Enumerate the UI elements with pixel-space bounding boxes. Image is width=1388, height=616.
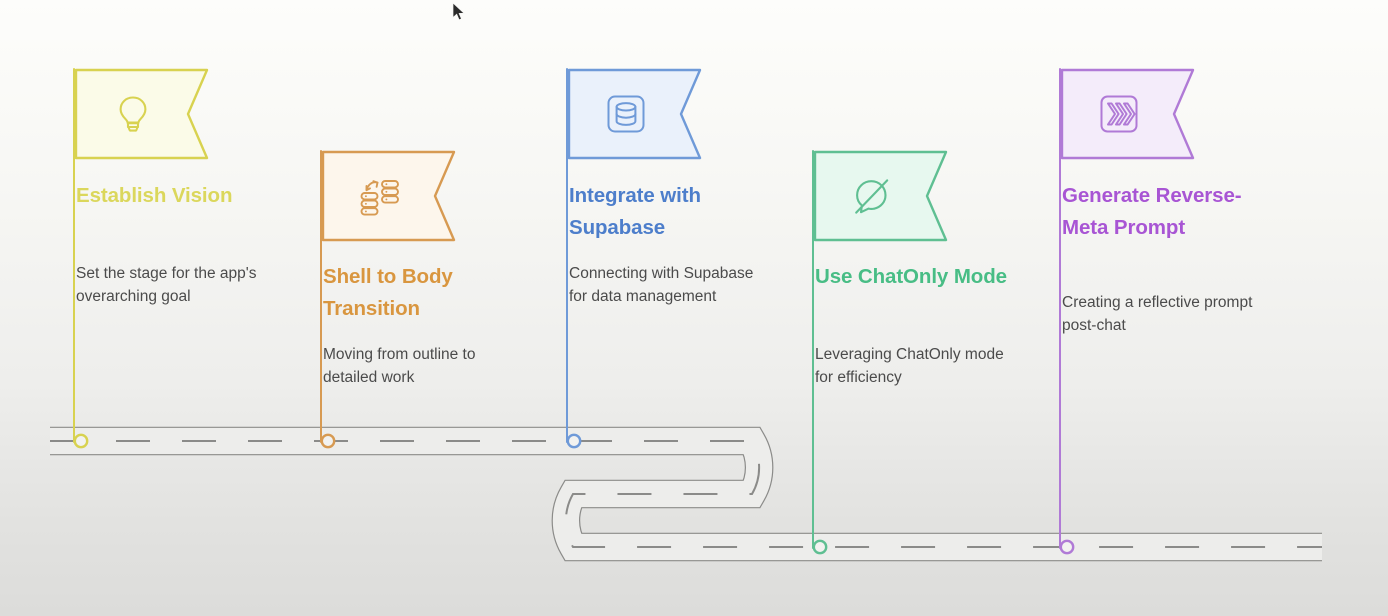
milestone-description: Set the stage for the app's overarching … xyxy=(76,262,272,308)
milestone-flag[interactable] xyxy=(814,150,954,242)
milestone-description: Moving from outline to detailed work xyxy=(323,343,519,389)
road-marker-use-chatonly-mode[interactable] xyxy=(814,541,826,553)
milestone-description: Creating a reflective prompt post-chat xyxy=(1062,291,1258,337)
milestone-title: Generate Reverse-Meta Prompt xyxy=(1062,180,1257,244)
milestone-description: Leveraging ChatOnly mode for efficiency xyxy=(815,343,1011,389)
milestone-title: Establish Vision xyxy=(76,180,271,212)
milestone-title: Use ChatOnly Mode xyxy=(815,261,1010,293)
road-marker-integrate-with-supabase[interactable] xyxy=(568,435,580,447)
mouse-pointer-icon xyxy=(452,2,466,22)
roadmap-canvas: Establish VisionSet the stage for the ap… xyxy=(0,0,1388,616)
milestone-title: Integrate with Supabase xyxy=(569,180,764,244)
road-marker-shell-to-body-transition[interactable] xyxy=(322,435,334,447)
road-fill-inner xyxy=(50,441,1322,547)
milestone-flag[interactable] xyxy=(568,68,708,160)
milestone-flag[interactable] xyxy=(1061,68,1201,160)
road-center-dashes xyxy=(50,441,1322,547)
road-edge-outer xyxy=(50,441,1322,547)
road-marker-generate-reverse-meta-prompt[interactable] xyxy=(1061,541,1073,553)
road-surface xyxy=(50,441,1322,547)
milestone-title: Shell to Body Transition xyxy=(323,261,518,325)
milestone-flag[interactable] xyxy=(322,150,462,242)
milestone-flag[interactable] xyxy=(75,68,215,160)
road-marker-establish-vision[interactable] xyxy=(75,435,87,447)
milestone-description: Connecting with Supabase for data manage… xyxy=(569,262,765,308)
